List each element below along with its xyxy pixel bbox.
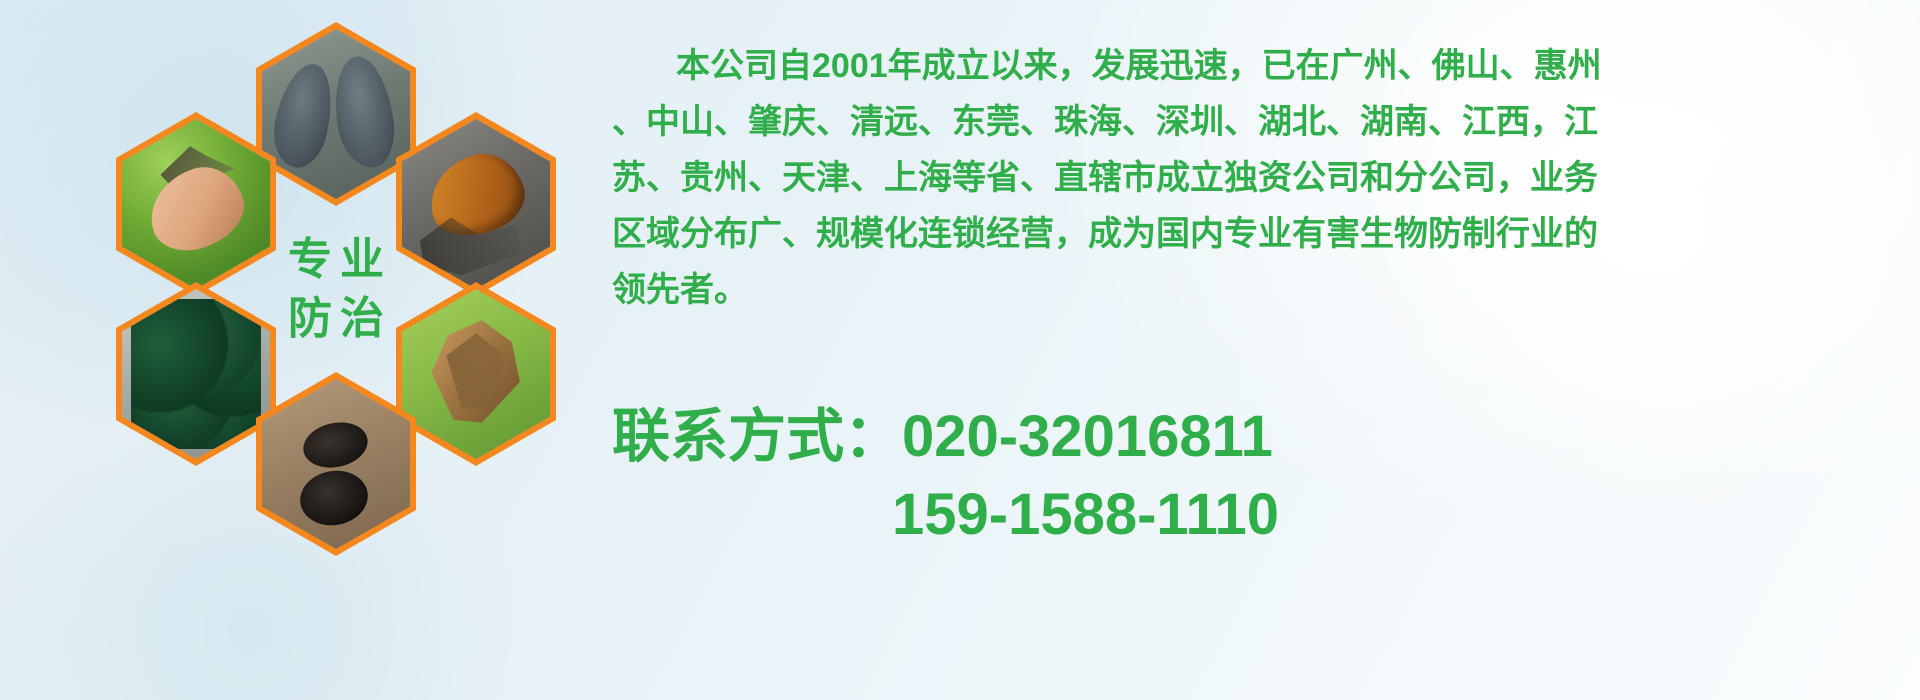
hex-tile-mosquito xyxy=(116,112,276,296)
hex-label-line2: 防治 xyxy=(280,289,392,348)
hexagon-photo-cluster: 专业 防治 xyxy=(88,10,588,570)
mosquito-photo xyxy=(122,119,270,289)
about-line-4: 区域分布广、规模化连锁经营，成为国内专业有害生物防制行业的 xyxy=(612,206,1912,262)
about-paragraph: 本公司自2001年成立以来，发展迅速，已在广州、佛山、惠州 、中山、肇庆、清远、… xyxy=(612,38,1912,318)
hex-label-line1: 专业 xyxy=(280,230,392,289)
hex-tile-cockroach xyxy=(396,112,556,296)
ant-photo xyxy=(262,379,410,549)
about-line-1: 本公司自2001年成立以来，发展迅速，已在广州、佛山、惠州 xyxy=(612,38,1912,94)
stinkbug-photo xyxy=(402,289,550,459)
about-line-2: 、中山、肇庆、清远、东莞、珠海、深圳、湖北、湖南、江西，江 xyxy=(612,94,1912,150)
hex-tile-rats xyxy=(256,22,416,206)
contact-block: 联系方式：020-32016811 159-1588-1110 xyxy=(612,398,1912,554)
contact-phone-primary[interactable]: 联系方式：020-32016811 xyxy=(612,398,1912,476)
contact-phone-secondary[interactable]: 159-1588-1110 xyxy=(612,476,1912,554)
hex-tile-ant xyxy=(256,372,416,556)
about-line-5: 领先者。 xyxy=(612,262,1912,318)
flies-photo xyxy=(122,289,270,459)
hex-tile-stinkbug xyxy=(396,282,556,466)
hex-center-label: 专业 防治 xyxy=(256,197,416,381)
promo-banner: 专业 防治 本公司自2001年成立以来，发展迅速，已在广州、佛山、惠州 、中山、… xyxy=(0,0,1920,700)
cockroach-photo xyxy=(402,119,550,289)
rats-photo xyxy=(262,29,410,199)
hex-tile-flies xyxy=(116,282,276,466)
about-line-3: 苏、贵州、天津、上海等省、直辖市成立独资公司和分公司，业务 xyxy=(612,150,1912,206)
